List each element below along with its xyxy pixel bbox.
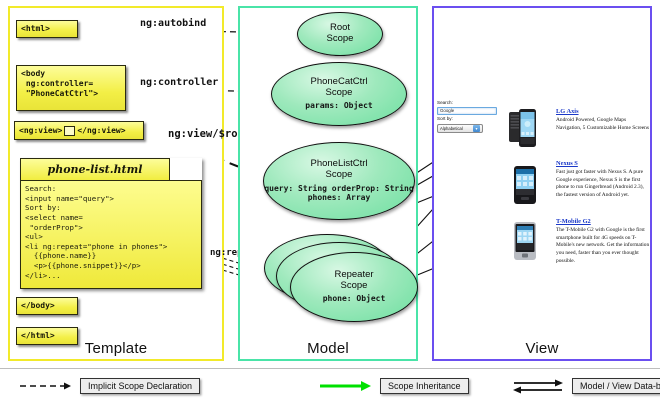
legend-label: Implicit Scope Declaration bbox=[80, 378, 200, 395]
sort-label: Sort by: bbox=[437, 116, 499, 123]
html-open-tag: <html> bbox=[16, 20, 78, 38]
double-arrow-icon bbox=[510, 378, 566, 394]
legend: Implicit Scope Declaration Scope Inherit… bbox=[0, 368, 660, 406]
html-close-tag: </html> bbox=[16, 327, 78, 345]
scope-phonelistctrl: PhoneListCtrl Scope query: String orderP… bbox=[263, 142, 415, 220]
body-close-tag: </body> bbox=[16, 297, 78, 315]
ng-view-open-label: <ng:view> bbox=[19, 126, 62, 136]
scope-phonecatctrl-attrs: params: Object bbox=[305, 101, 372, 111]
chevron-down-icon: ▾ bbox=[473, 125, 480, 132]
view-panel-label: View bbox=[434, 340, 650, 357]
scope-repeater-stack: Repeater Scope phone: Object bbox=[264, 234, 416, 320]
ng-view-slot-icon bbox=[64, 126, 75, 136]
phone-entry-nexus-s: Nexus S Fast just got faster with Nexus … bbox=[556, 160, 650, 200]
legend-label: Scope Inheritance bbox=[380, 378, 469, 395]
scope-root-line2: Scope bbox=[327, 34, 354, 45]
scope-phonelistctrl-line2: Scope bbox=[326, 170, 353, 181]
edge-label-ng-autobind: ng:autobind bbox=[140, 18, 206, 29]
scope-phonecatctrl-line2: Scope bbox=[326, 88, 353, 99]
scope-repeater-line2: Scope bbox=[341, 281, 368, 292]
legend-label: Model / View Data-binding bbox=[572, 378, 660, 395]
ng-view-close-label: </ng:view> bbox=[77, 126, 125, 136]
phone-entry-desc: Fast just got faster with Nexus S. A pur… bbox=[556, 169, 650, 200]
edge-label-ng-controller: ng:controller bbox=[140, 77, 218, 88]
phone-entry-desc: Android Powered, Google Maps Navigation,… bbox=[556, 117, 650, 132]
legend-item-model-view-data-binding: Model / View Data-binding bbox=[510, 377, 660, 395]
diagram-canvas: Template <html> <body ng:controller= "Ph… bbox=[0, 0, 660, 405]
green-arrow-icon bbox=[318, 378, 374, 394]
scope-phonecatctrl: PhoneCatCtrl Scope params: Object bbox=[271, 62, 407, 126]
ng-view-tag: <ng:view> </ng:view> bbox=[14, 121, 144, 140]
scope-root: Root Scope bbox=[297, 12, 383, 56]
phone-thumbnail-lg-axis bbox=[509, 108, 536, 148]
sort-select-value: Alphabetical bbox=[440, 126, 463, 131]
view-search-form: Search: Google Sort by: Alphabetical ▾ bbox=[437, 100, 499, 133]
sort-select[interactable]: Alphabetical ▾ bbox=[437, 124, 483, 133]
scope-repeater: Repeater Scope phone: Object bbox=[290, 252, 418, 322]
legend-item-scope-inheritance: Scope Inheritance bbox=[318, 377, 469, 395]
phone-list-note-code: Search: <input name="query"> Sort by: <s… bbox=[20, 180, 202, 289]
phone-entry-title[interactable]: LG Axis bbox=[556, 108, 650, 115]
phone-entry-lg-axis: LG Axis Android Powered, Google Maps Nav… bbox=[556, 108, 650, 132]
search-input[interactable]: Google bbox=[437, 107, 497, 115]
phone-entry-tmobile-g2: T-Mobile G2 The T-Mobile G2 with Google … bbox=[556, 218, 650, 265]
phone-thumbnail-tmobile-g2 bbox=[513, 222, 537, 260]
body-open-tag: <body ng:controller= "PhoneCatCtrl"> bbox=[16, 65, 126, 111]
dashed-arrow-icon bbox=[18, 378, 74, 394]
phone-thumbnail-nexus-s bbox=[513, 166, 537, 204]
scope-phonelistctrl-attrs: query: String orderProp: String phones: … bbox=[264, 184, 414, 203]
search-label: Search: bbox=[437, 100, 499, 107]
phone-entry-desc: The T-Mobile G2 with Google is the first… bbox=[556, 227, 650, 265]
scope-repeater-attrs: phone: Object bbox=[323, 294, 386, 304]
phone-entry-title[interactable]: T-Mobile G2 bbox=[556, 218, 650, 225]
phone-list-note-title: phone-list.html bbox=[20, 158, 170, 180]
legend-item-implicit-scope-declaration: Implicit Scope Declaration bbox=[18, 377, 200, 395]
phone-list-note: phone-list.html Search: <input name="que… bbox=[20, 158, 202, 289]
phone-entry-title[interactable]: Nexus S bbox=[556, 160, 650, 167]
model-panel-label: Model bbox=[240, 340, 416, 357]
